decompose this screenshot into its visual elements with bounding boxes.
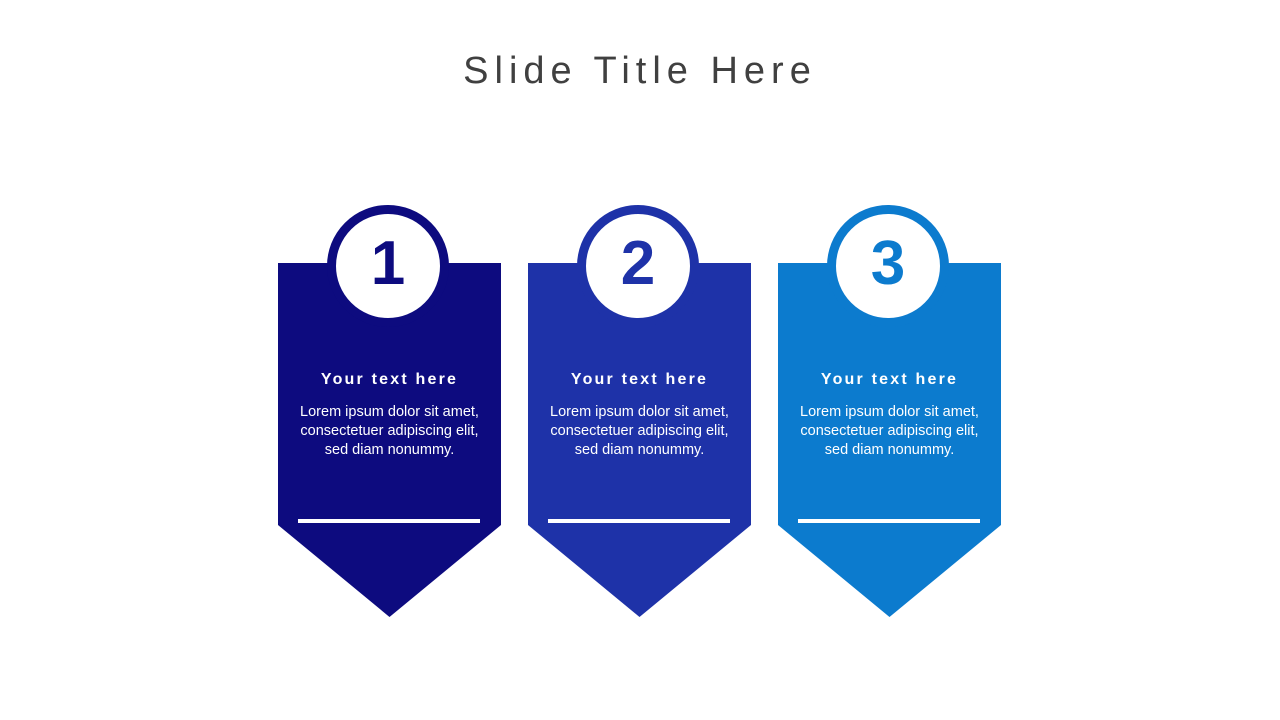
- step-number-label: 2: [621, 233, 655, 295]
- step-number-label: 3: [871, 233, 905, 295]
- banner-item[interactable]: Your text here Lorem ipsum dolor sit ame…: [528, 205, 751, 617]
- banner-description: Lorem ipsum dolor sit amet, consectetuer…: [298, 403, 481, 460]
- banner-divider: [798, 519, 980, 523]
- banner-description: Lorem ipsum dolor sit amet, consectetuer…: [548, 403, 731, 460]
- step-number-badge: 2: [577, 205, 699, 327]
- banner-heading: Your text here: [528, 370, 751, 390]
- banner-group: Your text here Lorem ipsum dolor sit ame…: [278, 205, 1001, 617]
- banner-heading: Your text here: [278, 370, 501, 390]
- banner-description: Lorem ipsum dolor sit amet, consectetuer…: [798, 403, 981, 460]
- slide-canvas: Slide Title Here Your text here Lorem ip…: [0, 0, 1280, 720]
- step-number-badge: 1: [327, 205, 449, 327]
- banner-heading: Your text here: [778, 370, 1001, 390]
- banner-divider: [548, 519, 730, 523]
- page-title: Slide Title Here: [0, 48, 1280, 94]
- banner-item[interactable]: Your text here Lorem ipsum dolor sit ame…: [278, 205, 501, 617]
- step-number-badge: 3: [827, 205, 949, 327]
- banner-item[interactable]: Your text here Lorem ipsum dolor sit ame…: [778, 205, 1001, 617]
- banner-divider: [298, 519, 480, 523]
- step-number-label: 1: [371, 233, 405, 295]
